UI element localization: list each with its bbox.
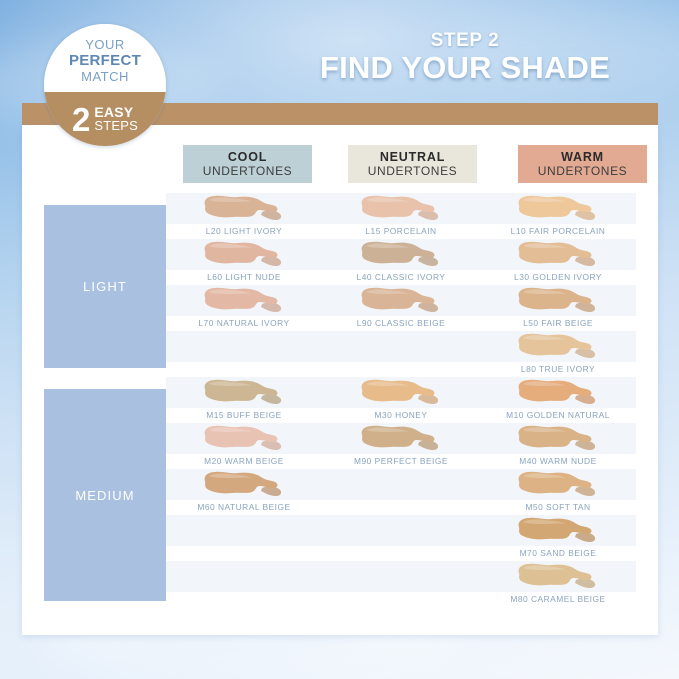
foundation-swatch-icon — [356, 377, 446, 408]
shade-swatch[interactable] — [513, 469, 603, 500]
shade-label: L40 CLASSIC IVORY — [323, 272, 479, 282]
shade-label: M15 BUFF BEIGE — [166, 410, 322, 420]
foundation-swatch-icon — [513, 469, 603, 500]
shade-swatch[interactable] — [356, 239, 446, 270]
badge-bottom: 2 EASY STEPS — [44, 92, 166, 146]
foundation-swatch-icon — [199, 239, 289, 270]
shade-swatch[interactable] — [513, 515, 603, 546]
shade-cell[interactable]: M80 CARAMEL BEIGE — [480, 561, 636, 607]
shade-swatch[interactable] — [513, 285, 603, 316]
shade-label: L20 LIGHT IVORY — [166, 226, 322, 236]
shade-cell[interactable]: M50 SOFT TAN — [480, 469, 636, 515]
badge-step-number: 2 — [72, 103, 90, 136]
foundation-swatch-icon — [513, 331, 603, 362]
undertone-header-warm[interactable]: WARMUNDERTONES — [518, 145, 647, 183]
foundation-swatch-icon — [199, 285, 289, 316]
shade-cell[interactable]: L50 FAIR BEIGE — [480, 285, 636, 331]
foundation-swatch-icon — [513, 377, 603, 408]
shade-swatch[interactable] — [513, 193, 603, 224]
shade-label: L70 NATURAL IVORY — [166, 318, 322, 328]
depth-section-label: MEDIUM — [75, 488, 134, 503]
foundation-swatch-icon — [356, 423, 446, 454]
shade-label: M80 CARAMEL BEIGE — [480, 594, 636, 604]
shade-label: M40 WARM NUDE — [480, 456, 636, 466]
step-label: STEP 2 — [300, 30, 630, 52]
foundation-swatch-icon — [356, 239, 446, 270]
shade-label: L90 CLASSIC BEIGE — [323, 318, 479, 328]
shade-label: M50 SOFT TAN — [480, 502, 636, 512]
shade-cell[interactable]: L15 PORCELAIN — [323, 193, 479, 239]
foundation-swatch-icon — [513, 561, 603, 592]
perfect-match-badge: YOUR PERFECT MATCH 2 EASY STEPS — [44, 24, 166, 146]
badge-top: YOUR PERFECT MATCH — [44, 24, 166, 92]
foundation-swatch-icon — [513, 515, 603, 546]
shade-label: M70 SAND BEIGE — [480, 548, 636, 558]
shade-label: M90 PERFECT BEIGE — [323, 456, 479, 466]
undertone-header-cool[interactable]: COOLUNDERTONES — [183, 145, 312, 183]
shade-label: L80 TRUE IVORY — [480, 364, 636, 374]
shade-cell[interactable]: L30 GOLDEN IVORY — [480, 239, 636, 285]
shade-cell[interactable]: M15 BUFF BEIGE — [166, 377, 322, 423]
shade-cell[interactable]: M90 PERFECT BEIGE — [323, 423, 479, 469]
depth-section-medium[interactable]: MEDIUM — [44, 389, 166, 601]
shade-label: L60 LIGHT NUDE — [166, 272, 322, 282]
shade-cell[interactable]: L40 CLASSIC IVORY — [323, 239, 479, 285]
foundation-swatch-icon — [199, 469, 289, 500]
shade-cell[interactable]: L60 LIGHT NUDE — [166, 239, 322, 285]
foundation-swatch-icon — [356, 285, 446, 316]
badge-steps-text: EASY STEPS — [94, 105, 138, 133]
shade-swatch[interactable] — [199, 423, 289, 454]
shade-label: M60 NATURAL BEIGE — [166, 502, 322, 512]
shade-cell[interactable]: L90 CLASSIC BEIGE — [323, 285, 479, 331]
shade-cell[interactable]: L80 TRUE IVORY — [480, 331, 636, 377]
shade-label: L10 FAIR PORCELAIN — [480, 226, 636, 236]
shade-label: M20 WARM BEIGE — [166, 456, 322, 466]
shade-swatch[interactable] — [356, 285, 446, 316]
depth-section-light[interactable]: LIGHT — [44, 205, 166, 368]
shade-cell[interactable]: L10 FAIR PORCELAIN — [480, 193, 636, 239]
undertone-name: NEUTRAL — [380, 150, 445, 164]
undertone-sublabel: UNDERTONES — [538, 164, 628, 178]
shade-swatch[interactable] — [513, 377, 603, 408]
shade-cell[interactable]: M40 WARM NUDE — [480, 423, 636, 469]
shade-label: M10 GOLDEN NATURAL — [480, 410, 636, 420]
shade-cell[interactable]: L70 NATURAL IVORY — [166, 285, 322, 331]
foundation-swatch-icon — [356, 193, 446, 224]
badge-your-label: YOUR — [85, 37, 125, 52]
foundation-swatch-icon — [513, 239, 603, 270]
foundation-swatch-icon — [199, 377, 289, 408]
shade-swatch[interactable] — [513, 331, 603, 362]
shade-finder-infographic: STEP 2 FIND YOUR SHADE YOUR PERFECT MATC… — [0, 0, 679, 679]
shade-label: L30 GOLDEN IVORY — [480, 272, 636, 282]
undertone-name: WARM — [561, 150, 604, 164]
badge-perfect-label: PERFECT — [69, 52, 141, 69]
foundation-swatch-icon — [513, 423, 603, 454]
shade-cell[interactable]: M10 GOLDEN NATURAL — [480, 377, 636, 423]
depth-section-label: LIGHT — [83, 279, 127, 294]
undertone-name: COOL — [228, 150, 267, 164]
badge-steps-label: STEPS — [94, 119, 138, 133]
shade-swatch[interactable] — [199, 285, 289, 316]
shade-cell[interactable]: M20 WARM BEIGE — [166, 423, 322, 469]
shade-cell[interactable]: M60 NATURAL BEIGE — [166, 469, 322, 515]
shade-swatch[interactable] — [356, 423, 446, 454]
shade-cell[interactable]: M70 SAND BEIGE — [480, 515, 636, 561]
shade-swatch[interactable] — [356, 377, 446, 408]
undertone-sublabel: UNDERTONES — [368, 164, 458, 178]
shade-swatch[interactable] — [199, 193, 289, 224]
shade-swatch[interactable] — [513, 561, 603, 592]
page-title: FIND YOUR SHADE — [270, 50, 660, 86]
undertone-sublabel: UNDERTONES — [203, 164, 293, 178]
shade-label: M30 HONEY — [323, 410, 479, 420]
badge-match-label: MATCH — [81, 69, 129, 84]
undertone-header-neutral[interactable]: NEUTRALUNDERTONES — [348, 145, 477, 183]
badge-easy-label: EASY — [94, 105, 138, 119]
shade-swatch[interactable] — [513, 423, 603, 454]
foundation-swatch-icon — [199, 193, 289, 224]
foundation-swatch-icon — [199, 423, 289, 454]
shade-label: L50 FAIR BEIGE — [480, 318, 636, 328]
shade-swatch[interactable] — [356, 193, 446, 224]
shade-swatch[interactable] — [199, 469, 289, 500]
shade-cell[interactable]: L20 LIGHT IVORY — [166, 193, 322, 239]
shade-label: L15 PORCELAIN — [323, 226, 479, 236]
foundation-swatch-icon — [513, 193, 603, 224]
foundation-swatch-icon — [513, 285, 603, 316]
shade-cell[interactable]: M30 HONEY — [323, 377, 479, 423]
shade-swatch[interactable] — [199, 377, 289, 408]
shade-swatch[interactable] — [513, 239, 603, 270]
shade-swatch[interactable] — [199, 239, 289, 270]
